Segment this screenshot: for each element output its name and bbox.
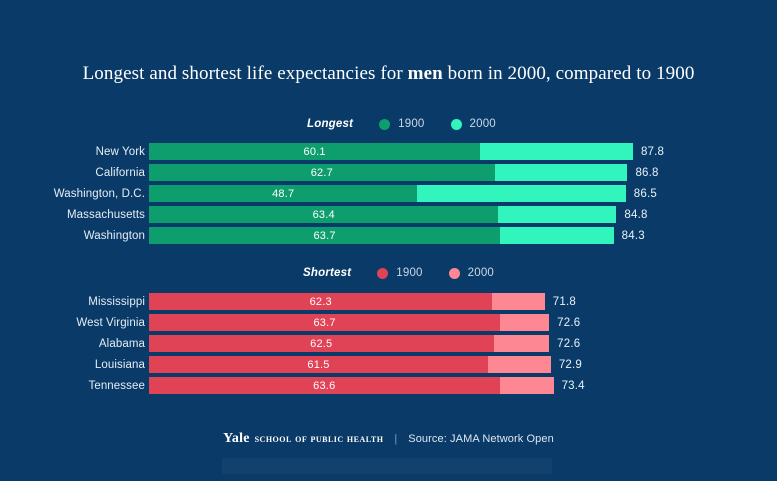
title-emphasis: men xyxy=(408,63,443,84)
bar-value-2000: 72.6 xyxy=(557,314,580,331)
bar-segment-2000[interactable] xyxy=(498,206,616,223)
bar-segment-2000[interactable] xyxy=(495,164,628,181)
bar-row-label: Louisiana xyxy=(0,359,145,371)
bar-value-2000: 86.5 xyxy=(634,185,657,202)
bar-segment-2000[interactable] xyxy=(500,314,549,331)
bar-segment-2000[interactable] xyxy=(500,377,554,394)
footer-source: Source: JAMA Network Open xyxy=(408,433,554,445)
bar-segment-1900[interactable]: 61.5 xyxy=(149,356,488,373)
bar[interactable]: 62.3 xyxy=(149,293,545,310)
bar-row-label: Tennessee xyxy=(0,380,145,392)
legend-longest: Longest 1900 2000 xyxy=(307,116,496,132)
yale-wordmark: Yale xyxy=(223,431,249,447)
legend-shortest-title: Shortest xyxy=(303,267,351,279)
bar-segment-1900[interactable]: 62.7 xyxy=(149,164,495,181)
bar-value-1900: 63.6 xyxy=(313,380,335,392)
bar[interactable]: 63.7 xyxy=(149,227,614,244)
yale-school-name: School of Public Health xyxy=(255,433,384,445)
bar-value-1900: 62.5 xyxy=(310,338,332,350)
bar-segment-1900[interactable]: 60.1 xyxy=(149,143,480,160)
bar-segment-1900[interactable]: 62.3 xyxy=(149,293,492,310)
legend-shortest-label-2000: 2000 xyxy=(468,267,494,279)
legend-longest-title: Longest xyxy=(307,118,353,130)
bar-row-label: West Virginia xyxy=(0,317,145,329)
bar-value-1900: 63.7 xyxy=(313,317,335,329)
bar-row-label: Massachusetts xyxy=(0,209,145,221)
legend-longest-label-1900: 1900 xyxy=(398,118,424,130)
chart-canvas: Longest and shortest life expectancies f… xyxy=(0,0,777,481)
bar-value-2000: 84.8 xyxy=(624,206,647,223)
bar-row[interactable]: California62.786.8 xyxy=(0,164,777,181)
bar-value-2000: 84.3 xyxy=(622,227,645,244)
title-prefix: Longest and shortest life expectancies f… xyxy=(83,63,408,84)
legend-dot-icon xyxy=(379,119,390,130)
legend-shortest-label-1900: 1900 xyxy=(396,267,422,279)
bar-segment-2000[interactable] xyxy=(492,293,544,310)
legend-shortest: Shortest 1900 2000 xyxy=(303,265,494,281)
bar-value-2000: 73.4 xyxy=(562,377,585,394)
bar-row[interactable]: West Virginia63.772.6 xyxy=(0,314,777,331)
bar-segment-1900[interactable]: 48.7 xyxy=(149,185,417,202)
bar-value-1900: 61.5 xyxy=(307,359,329,371)
title-suffix: born in 2000, compared to 1900 xyxy=(443,63,695,84)
bar-row[interactable]: New York60.187.8 xyxy=(0,143,777,160)
bar-row-label: Alabama xyxy=(0,338,145,350)
legend-dot-icon xyxy=(449,268,460,279)
bar-segment-1900[interactable]: 63.7 xyxy=(149,314,500,331)
bar-segment-1900[interactable]: 63.6 xyxy=(149,377,500,394)
bar-value-1900: 48.7 xyxy=(272,188,294,200)
bar-row[interactable]: Mississippi62.371.8 xyxy=(0,293,777,310)
bar[interactable]: 62.5 xyxy=(149,335,549,352)
bar[interactable]: 63.7 xyxy=(149,314,549,331)
legend-longest-entry-2000[interactable]: 2000 xyxy=(451,118,496,130)
bar-row-label: New York xyxy=(0,146,145,158)
bar-segment-2000[interactable] xyxy=(417,185,625,202)
bar-value-2000: 87.8 xyxy=(641,143,664,160)
footer: Yale School of Public Health | Source: J… xyxy=(0,431,777,447)
bar-value-1900: 62.7 xyxy=(311,167,333,179)
bar-row-label: Washington, D.C. xyxy=(0,188,145,200)
footer-divider: | xyxy=(394,433,397,445)
bar-segment-2000[interactable] xyxy=(500,227,614,244)
bar-segment-2000[interactable] xyxy=(494,335,550,352)
legend-shortest-entry-2000[interactable]: 2000 xyxy=(449,267,494,279)
bar-row-label: California xyxy=(0,167,145,179)
page-title: Longest and shortest life expectancies f… xyxy=(0,63,777,85)
bar-segment-1900[interactable]: 63.7 xyxy=(149,227,500,244)
bar[interactable]: 61.5 xyxy=(149,356,551,373)
bar-value-2000: 72.9 xyxy=(559,356,582,373)
legend-dot-icon xyxy=(377,268,388,279)
bar-segment-1900[interactable]: 63.4 xyxy=(149,206,498,223)
bar-row[interactable]: Massachusetts63.484.8 xyxy=(0,206,777,223)
legend-shortest-entry-1900[interactable]: 1900 xyxy=(377,267,422,279)
bar-value-2000: 72.6 xyxy=(557,335,580,352)
legend-dot-icon xyxy=(451,119,462,130)
bar-value-2000: 86.8 xyxy=(635,164,658,181)
bar-segment-1900[interactable]: 62.5 xyxy=(149,335,494,352)
bar-value-2000: 71.8 xyxy=(553,293,576,310)
bar-row[interactable]: Louisiana61.572.9 xyxy=(0,356,777,373)
bar-value-1900: 60.1 xyxy=(304,146,326,158)
bar-row[interactable]: Tennessee63.673.4 xyxy=(0,377,777,394)
bar-value-1900: 63.7 xyxy=(313,230,335,242)
bar-row-label: Mississippi xyxy=(0,296,145,308)
bar-row[interactable]: Washington, D.C.48.786.5 xyxy=(0,185,777,202)
bar-segment-2000[interactable] xyxy=(488,356,551,373)
bar[interactable]: 60.1 xyxy=(149,143,633,160)
bar[interactable]: 48.7 xyxy=(149,185,626,202)
bar-row[interactable]: Alabama62.572.6 xyxy=(0,335,777,352)
bar[interactable]: 63.6 xyxy=(149,377,554,394)
bar-segment-2000[interactable] xyxy=(480,143,633,160)
bar-row[interactable]: Washington63.784.3 xyxy=(0,227,777,244)
bar-value-1900: 63.4 xyxy=(313,209,335,221)
legend-longest-entry-1900[interactable]: 1900 xyxy=(379,118,424,130)
bar-row-label: Washington xyxy=(0,230,145,242)
bar-value-1900: 62.3 xyxy=(310,296,332,308)
bar[interactable]: 62.7 xyxy=(149,164,627,181)
bottom-artifact xyxy=(222,458,552,474)
legend-longest-label-2000: 2000 xyxy=(470,118,496,130)
bar[interactable]: 63.4 xyxy=(149,206,616,223)
